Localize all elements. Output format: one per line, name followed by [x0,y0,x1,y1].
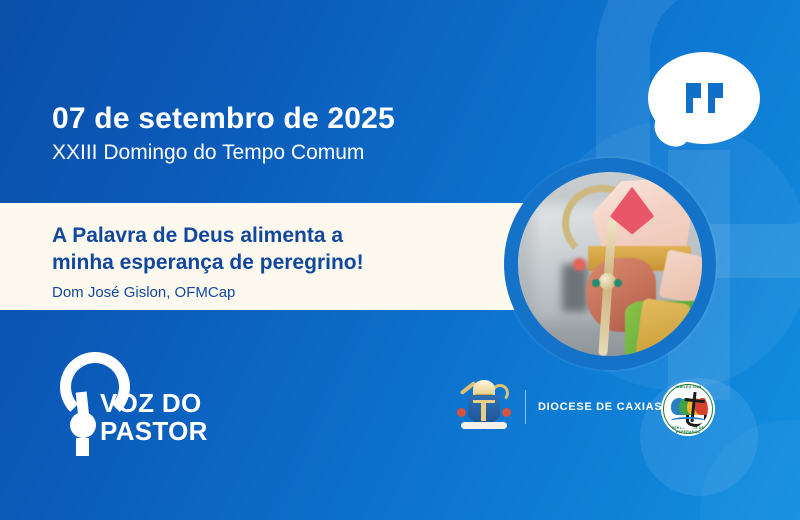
brand-line-1: VOZ DO [100,390,208,418]
quote-line-1: A Palavra de Deus alimenta a [52,222,482,249]
voz-do-pastor-wordmark: VOZ DO PASTOR [100,390,208,445]
voz-do-pastor-logo: VOZ DO PASTOR [52,352,252,452]
diocese-coat-of-arms-icon [455,378,513,436]
quote-author: Dom José Gislon, OFMCap [52,284,482,301]
quotation-marks-icon [648,52,760,144]
photo-crosier-gem-right [614,279,622,287]
crosier-ball [70,412,96,438]
jubilee-2025-logo: JUBILEU 2025 PEREGRINOS DE ESPERANÇA [661,382,715,436]
voz-do-pastor-banner: 07 de setembro de 2025 XXIII Domingo do … [0,0,800,520]
bishop-portrait-photo [518,172,702,356]
header-block: 07 de setembro de 2025 XXIII Domingo do … [52,102,395,165]
speech-bubble [648,52,764,156]
date-text: 07 de setembro de 2025 [52,102,395,135]
quote-block: A Palavra de Deus alimenta a minha esper… [52,222,482,301]
photo-crosier-gem-left [592,279,600,287]
background-circle-small [700,420,800,520]
jubilee-emblem [668,389,708,429]
quote-line-2: minha esperança de peregrino! [52,249,482,276]
brand-line-2: PASTOR [100,418,208,446]
bishop-portrait [504,158,716,370]
diocese-divider [525,390,526,424]
photo-gold-stole [636,298,692,356]
crosier-base [76,438,89,456]
liturgical-day-text: XXIII Domingo do Tempo Comum [52,141,395,165]
